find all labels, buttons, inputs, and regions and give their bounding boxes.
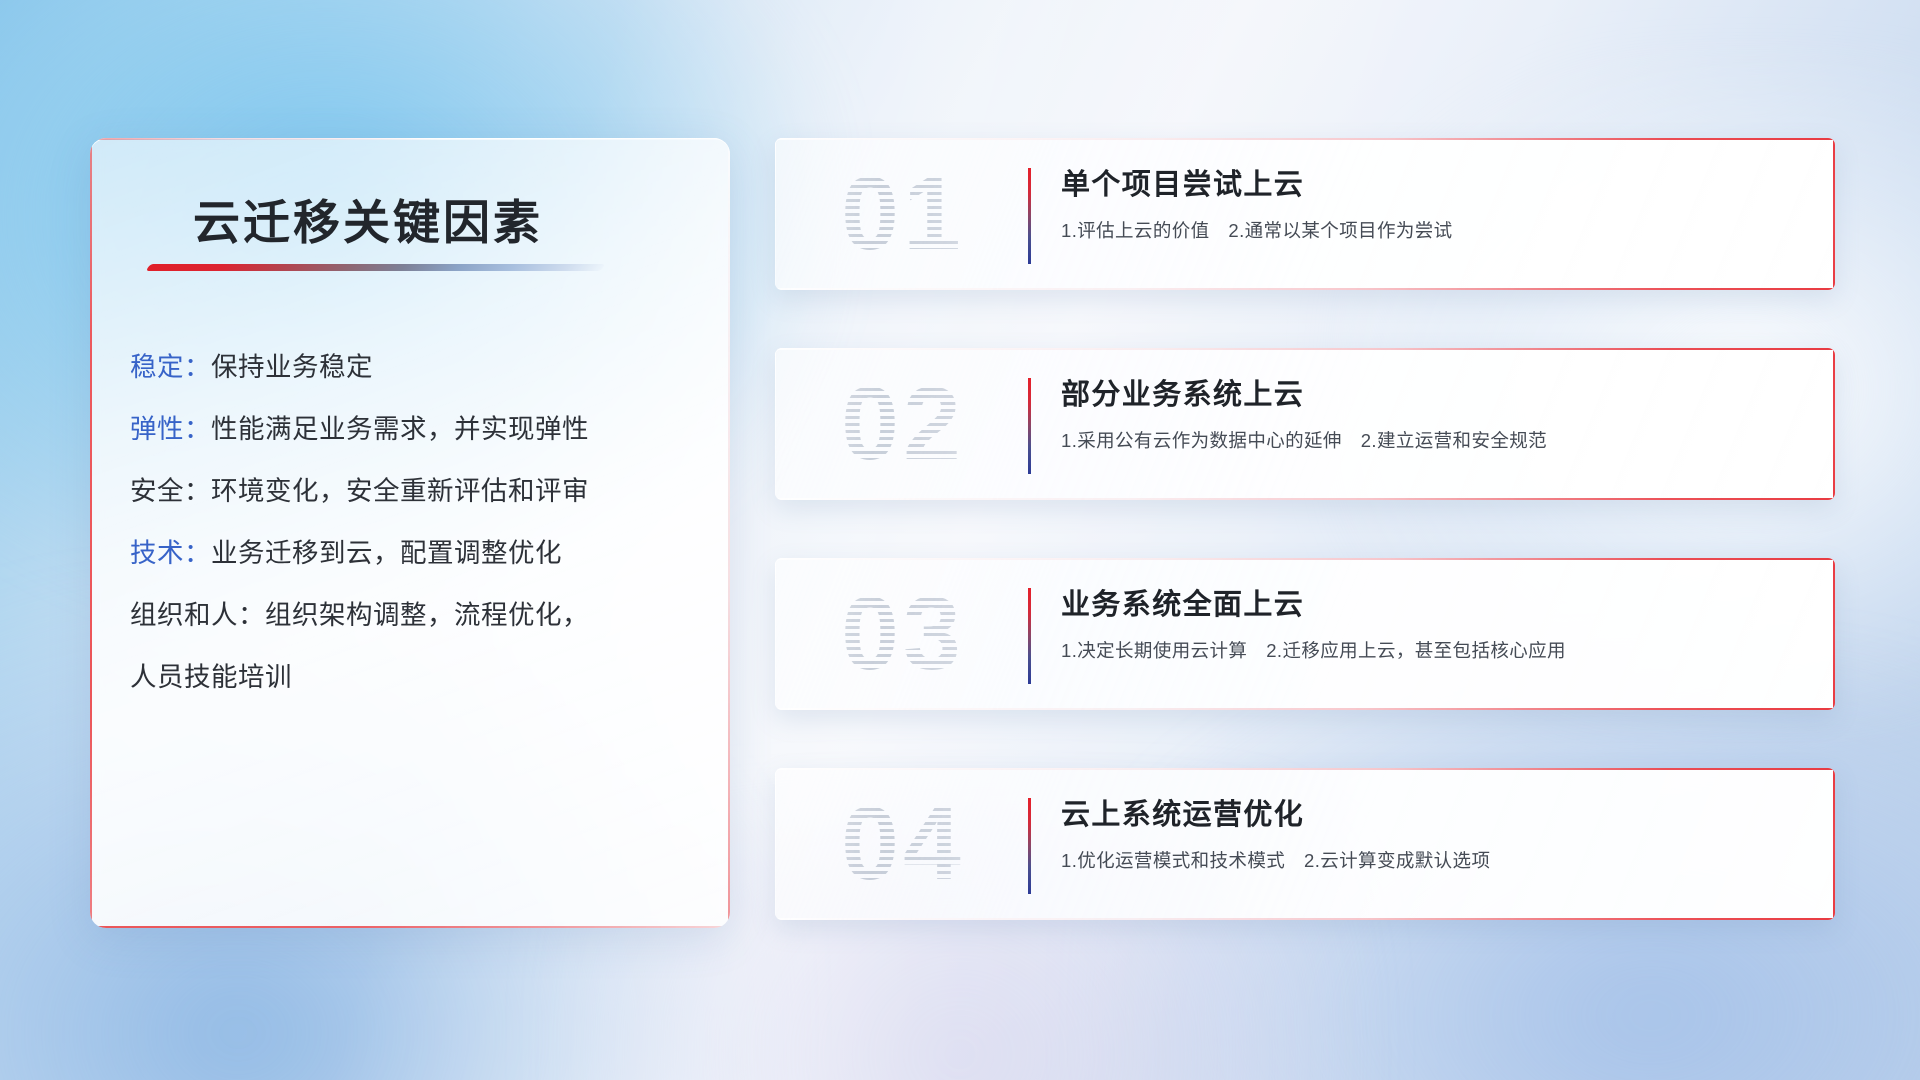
card-border-top [775, 138, 1835, 140]
step-number: 02 [803, 360, 1003, 488]
step-title: 业务系统全面上云 [1061, 582, 1805, 628]
card-border-bottom [775, 498, 1835, 500]
factor-label: 组织和人： [130, 600, 265, 630]
panel-border-right [728, 138, 730, 928]
card-border-bottom [775, 708, 1835, 710]
factor-item: 稳定：保持业务稳定 [130, 336, 704, 398]
card-border-top [775, 558, 1835, 560]
card-border-right [1833, 348, 1835, 500]
step-title: 单个项目尝试上云 [1061, 162, 1805, 208]
step-subtitle: 1.优化运营模式和技术模式 2.云计算变成默认选项 [1061, 846, 1805, 876]
step-card-01[interactable]: 01 单个项目尝试上云 1.评估上云的价值 2.通常以某个项目作为尝试 [775, 138, 1835, 290]
step-card-04[interactable]: 04 云上系统运营优化 1.优化运营模式和技术模式 2.云计算变成默认选项 [775, 768, 1835, 920]
factor-item: 技术：业务迁移到云，配置调整优化 [130, 522, 704, 584]
factor-value: 环境变化，安全重新评估和评审 [211, 476, 589, 506]
factor-value: 保持业务稳定 [211, 352, 373, 382]
step-number: 01 [803, 150, 1003, 278]
card-border-left [775, 138, 776, 290]
factor-label: 技术： [130, 538, 211, 568]
card-border-left [775, 768, 776, 920]
step-title: 云上系统运营优化 [1061, 792, 1805, 838]
card-border-right [1833, 768, 1835, 920]
factor-label: 稳定： [130, 352, 211, 382]
factor-list: 稳定：保持业务稳定 弹性：性能满足业务需求，并实现弹性 安全：环境变化，安全重新… [130, 336, 704, 708]
card-border-right [1833, 558, 1835, 710]
step-card-02[interactable]: 02 部分业务系统上云 1.采用公有云作为数据中心的延伸 2.建立运营和安全规范 [775, 348, 1835, 500]
step-subtitle: 1.采用公有云作为数据中心的延伸 2.建立运营和安全规范 [1061, 426, 1805, 456]
panel-title-underline [146, 264, 606, 271]
factor-item: 安全：环境变化，安全重新评估和评审 [130, 460, 704, 522]
card-border-right [1833, 138, 1835, 290]
factor-label: 安全： [130, 476, 211, 506]
step-divider-bar [1028, 798, 1031, 894]
step-card-03[interactable]: 03 业务系统全面上云 1.决定长期使用云计算 2.迁移应用上云，甚至包括核心应… [775, 558, 1835, 710]
factor-value: 组织架构调整，流程优化， [265, 600, 589, 630]
factor-item: 组织和人：组织架构调整，流程优化， [130, 584, 704, 646]
panel-border-left [90, 138, 92, 928]
card-border-left [775, 348, 776, 500]
slide-stage: 云迁移关键因素 稳定：保持业务稳定 弹性：性能满足业务需求，并实现弹性 安全：环… [0, 0, 1920, 1080]
step-divider-bar [1028, 588, 1031, 684]
key-factors-panel: 云迁移关键因素 稳定：保持业务稳定 弹性：性能满足业务需求，并实现弹性 安全：环… [90, 138, 730, 928]
step-number: 03 [803, 570, 1003, 698]
factor-value: 业务迁移到云，配置调整优化 [211, 538, 562, 568]
card-border-top [775, 348, 1835, 350]
step-body: 业务系统全面上云 1.决定长期使用云计算 2.迁移应用上云，甚至包括核心应用 [1061, 582, 1805, 666]
step-body: 部分业务系统上云 1.采用公有云作为数据中心的延伸 2.建立运营和安全规范 [1061, 372, 1805, 456]
panel-border-bottom [90, 926, 730, 928]
factor-label: 弹性： [130, 414, 211, 444]
panel-title: 云迁移关键因素 [193, 184, 543, 253]
panel-border-top [90, 138, 730, 140]
factor-item: 弹性：性能满足业务需求，并实现弹性 [130, 398, 704, 460]
step-subtitle: 1.评估上云的价值 2.通常以某个项目作为尝试 [1061, 216, 1805, 246]
factor-value: 性能满足业务需求，并实现弹性 [211, 414, 589, 444]
step-subtitle: 1.决定长期使用云计算 2.迁移应用上云，甚至包括核心应用 [1061, 636, 1805, 666]
card-border-top [775, 768, 1835, 770]
factor-continuation-line: 人员技能培训 [130, 646, 704, 708]
card-border-bottom [775, 918, 1835, 920]
step-title: 部分业务系统上云 [1061, 372, 1805, 418]
step-divider-bar [1028, 168, 1031, 264]
step-body: 单个项目尝试上云 1.评估上云的价值 2.通常以某个项目作为尝试 [1061, 162, 1805, 246]
card-border-left [775, 558, 776, 710]
card-border-bottom [775, 288, 1835, 290]
step-body: 云上系统运营优化 1.优化运营模式和技术模式 2.云计算变成默认选项 [1061, 792, 1805, 876]
step-number: 04 [803, 780, 1003, 908]
step-divider-bar [1028, 378, 1031, 474]
migration-steps-list: 01 单个项目尝试上云 1.评估上云的价值 2.通常以某个项目作为尝试 02 部… [775, 138, 1835, 978]
